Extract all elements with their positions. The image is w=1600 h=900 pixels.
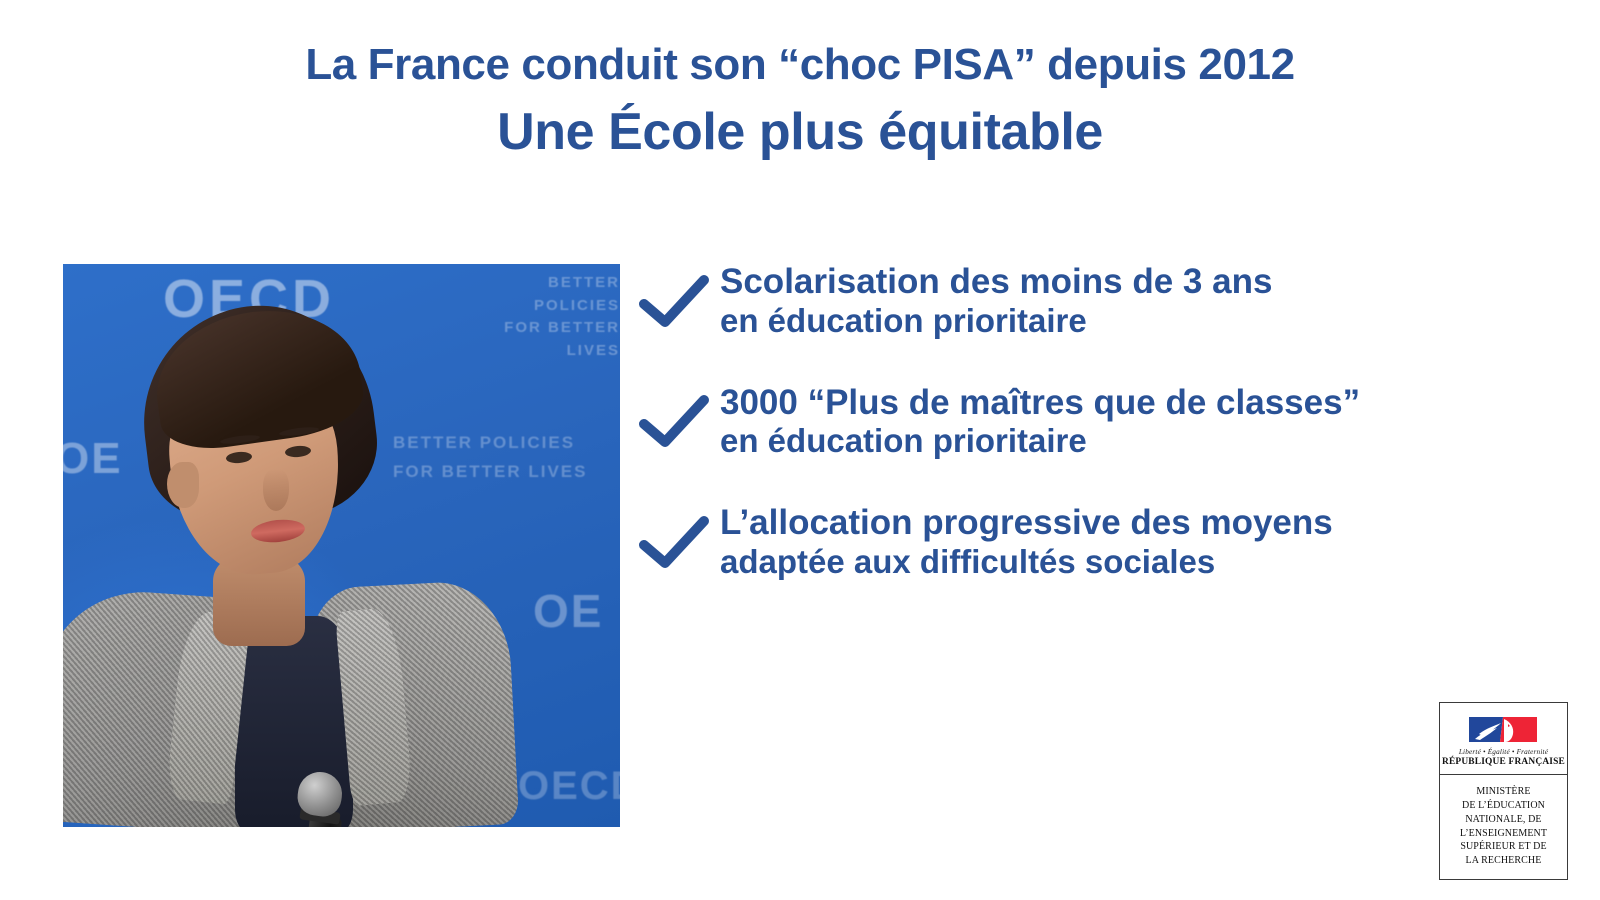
list-item-line-1: Scolarisation des moins de 3 ans: [720, 262, 1272, 302]
oecd-wordmark-left: OE: [63, 434, 123, 484]
list-item-text: 3000 “Plus de maîtres que de classes” en…: [720, 383, 1360, 461]
logo-republique-francaise: RÉPUBLIQUE FRANÇAISE: [1442, 757, 1565, 767]
ministry-logo: Liberté • Égalité • Fraternité RÉPUBLIQU…: [1439, 702, 1568, 880]
ministry-line: LA RECHERCHE: [1466, 854, 1542, 868]
list-item-line-2: adaptée aux difficultés sociales: [720, 543, 1333, 581]
measures-list: Scolarisation des moins de 3 ans en éduc…: [638, 262, 1538, 624]
page-title-line-2: Une École plus équitable: [0, 101, 1600, 163]
title-block: La France conduit son “choc PISA” depuis…: [0, 40, 1600, 164]
oecd-tagline-mid-line2: FOR BETTER LIVES: [393, 458, 587, 487]
oecd-tagline-top: BETTER POLICIES FOR BETTER LIVES: [483, 272, 620, 362]
ministry-line: L’ENSEIGNEMENT: [1460, 827, 1547, 841]
oecd-wordmark-bottom: OECD: [518, 764, 620, 809]
list-item-line-2: en éducation prioritaire: [720, 302, 1272, 340]
list-item-line-2: en éducation prioritaire: [720, 422, 1360, 460]
ministry-line: SUPÉRIEUR ET DE: [1460, 840, 1546, 854]
republique-francaise-block: Liberté • Égalité • Fraternité RÉPUBLIQU…: [1440, 703, 1567, 775]
check-icon: [638, 393, 710, 449]
oecd-tagline-top-line1: BETTER POLICIES: [483, 272, 620, 317]
oecd-tagline-mid-line1: BETTER POLICIES: [393, 429, 587, 458]
page-title-line-1: La France conduit son “choc PISA” depuis…: [0, 40, 1600, 89]
minister-photo: OECD BETTER POLICIES FOR BETTER LIVES BE…: [63, 264, 620, 827]
list-item: 3000 “Plus de maîtres que de classes” en…: [638, 383, 1538, 461]
oecd-tagline-mid: BETTER POLICIES FOR BETTER LIVES: [393, 429, 587, 487]
marianne-flag-icon: [1467, 712, 1541, 746]
ministry-line: MINISTÈRE: [1476, 785, 1530, 799]
list-item-line-1: 3000 “Plus de maîtres que de classes”: [720, 383, 1360, 423]
nose: [263, 469, 289, 511]
ear: [167, 462, 199, 508]
logo-devise: Liberté • Égalité • Fraternité: [1459, 748, 1548, 756]
list-item-text: L’allocation progressive des moyens adap…: [720, 503, 1333, 581]
ministry-name-block: MINISTÈRE DE L’ÉDUCATION NATIONALE, DE L…: [1440, 775, 1567, 878]
check-icon: [638, 273, 710, 329]
ministry-line: DE L’ÉDUCATION: [1462, 799, 1545, 813]
oecd-tagline-top-line2: FOR BETTER LIVES: [483, 317, 620, 362]
check-icon: [638, 514, 710, 570]
ministry-line: NATIONALE, DE: [1465, 813, 1541, 827]
list-item-text: Scolarisation des moins de 3 ans en éduc…: [720, 262, 1272, 340]
list-item: L’allocation progressive des moyens adap…: [638, 503, 1538, 581]
list-item: Scolarisation des moins de 3 ans en éduc…: [638, 262, 1538, 340]
list-item-line-1: L’allocation progressive des moyens: [720, 503, 1333, 543]
oecd-wordmark-bottom-right: OE: [533, 584, 603, 638]
